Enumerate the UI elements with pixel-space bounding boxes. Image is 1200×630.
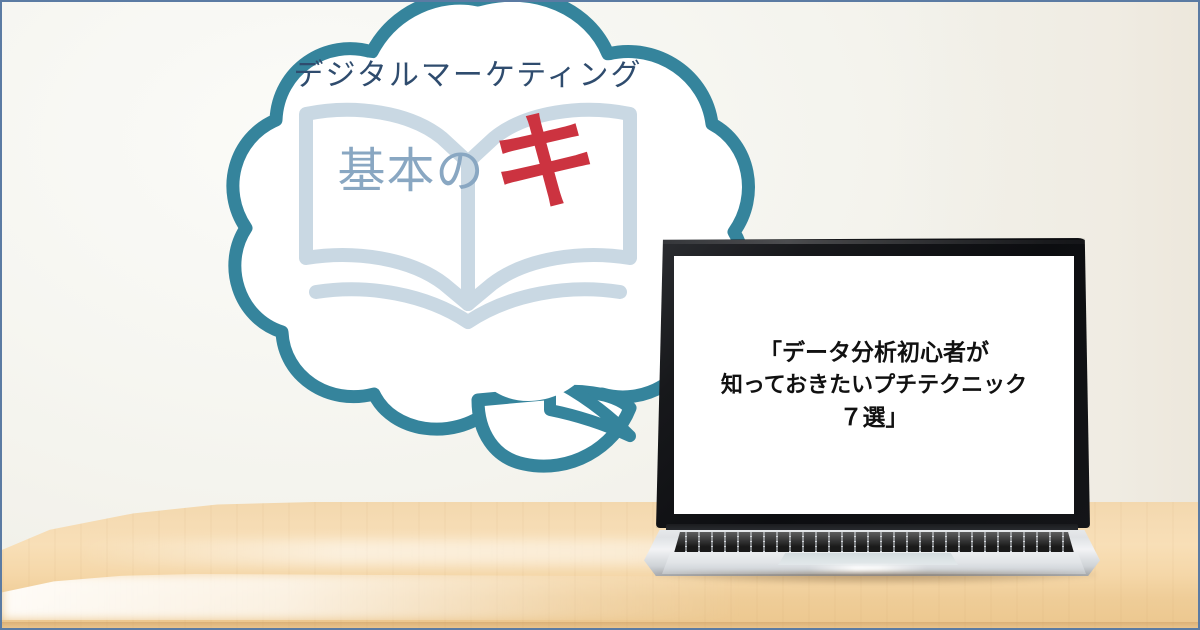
laptop-screen: 「データ分析初心者が 知っておきたいプチテクニック ７選」 <box>674 256 1074 514</box>
laptop-shadow <box>656 572 1096 584</box>
laptop-trackpad <box>778 553 958 565</box>
desk-front-edge-highlight <box>2 574 744 620</box>
screen-title-line-3: ７選」 <box>721 401 1027 434</box>
laptop-lid-highlight <box>658 240 1088 244</box>
keyboard-shine <box>674 532 1074 553</box>
screen-title-line-1: 「データ分析初心者が <box>721 336 1027 369</box>
ogp-banner: デジタルマーケティング 基本の キ 「データ分析初心者が 知っておきたいプチテク… <box>0 0 1200 630</box>
screen-title: 「データ分析初心者が 知っておきたいプチテクニック ７選」 <box>715 336 1033 435</box>
screen-title-line-2: 知っておきたいプチテクニック <box>721 369 1027 401</box>
desk-bottom-edge <box>2 622 1198 628</box>
laptop-computer: 「データ分析初心者が 知っておきたいプチテクニック ７選」 <box>648 238 1098 568</box>
